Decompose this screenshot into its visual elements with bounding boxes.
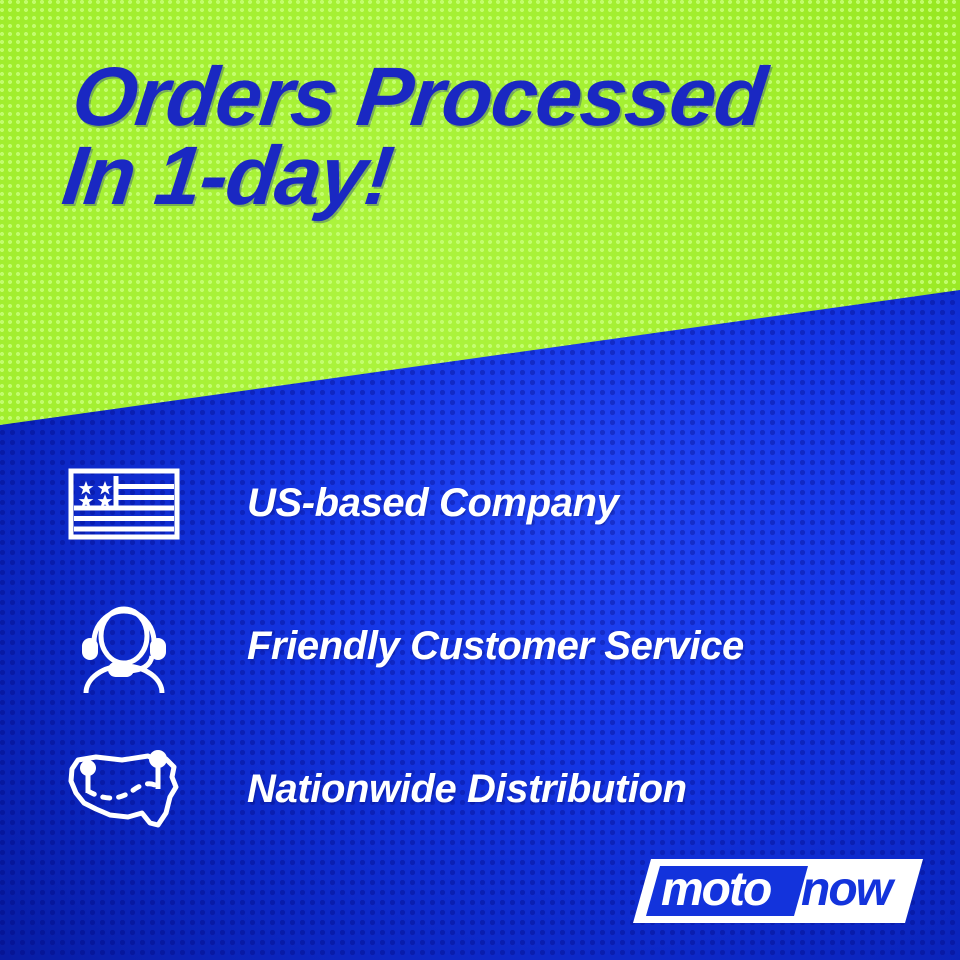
- promo-banner: Orders Processed In 1-day!: [0, 0, 960, 960]
- logo-text-moto: moto: [661, 863, 771, 916]
- feature-label: Nationwide Distribution: [247, 767, 687, 812]
- us-map-pins-icon: [56, 740, 192, 840]
- feature-row-nationwide: Nationwide Distribution: [0, 718, 960, 861]
- feature-row-us-based: US-based Company: [0, 432, 960, 575]
- feature-label: Friendly Customer Service: [247, 624, 744, 669]
- headset-agent-icon: [56, 597, 192, 697]
- feature-row-customer-service: Friendly Customer Service: [0, 575, 960, 718]
- motonow-logo[interactable]: moto now: [633, 855, 923, 927]
- feature-list: US-based Company Friendly Customer Servi…: [0, 432, 960, 861]
- logo-text-now: now: [801, 863, 896, 916]
- us-flag-icon: [56, 454, 192, 554]
- headline: Orders Processed In 1-day!: [59, 58, 908, 216]
- feature-label: US-based Company: [247, 481, 618, 526]
- headline-line-1: Orders Processed: [68, 58, 908, 137]
- headline-line-2: In 1-day!: [59, 137, 899, 216]
